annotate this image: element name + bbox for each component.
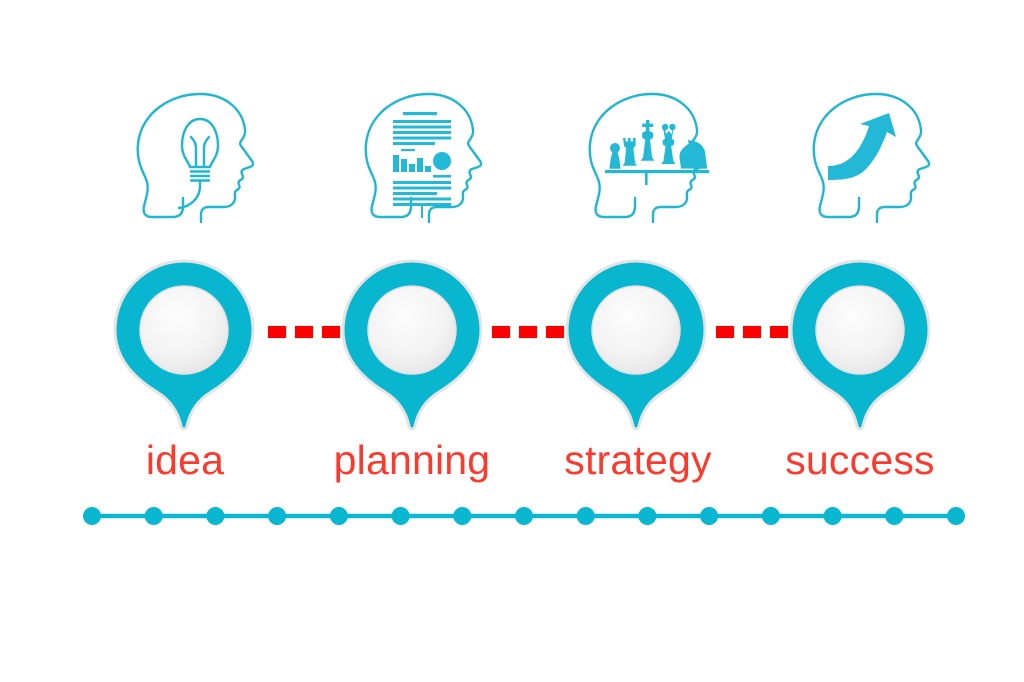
connector-idea-to-planning [268,326,340,338]
step-label-success: success [740,434,980,486]
connector-dash [743,326,761,338]
step-label-planning: planning [292,434,532,486]
timeline-dots [83,507,965,525]
connector-planning-to-strategy [492,326,564,338]
connector-dash [492,326,510,338]
head-with-chess-pieces-icon [577,86,727,231]
connector-dash [268,326,286,338]
step-pin-success[interactable] [786,256,934,434]
head-with-growth-arrow-icon [801,86,951,231]
connector-dash [322,326,340,338]
step-pin-strategy[interactable] [562,256,710,434]
connector-dash [519,326,537,338]
step-label-strategy: strategy [518,434,758,486]
step-pin-idea[interactable] [110,256,258,434]
connector-dash [546,326,564,338]
label-row: idea planning strategy success [0,434,1024,490]
infographic-canvas: idea planning strategy success [0,0,1024,682]
head-with-document-chart-icon [353,86,503,231]
icon-row [0,86,1024,236]
connector-strategy-to-success [716,326,788,338]
head-with-lightbulb-icon [125,86,275,231]
bottom-timeline [80,505,968,527]
step-label-idea: idea [65,434,305,486]
pin-row [0,256,1024,436]
connector-dash [770,326,788,338]
step-pin-planning[interactable] [338,256,486,434]
connector-dash [716,326,734,338]
connector-dash [295,326,313,338]
